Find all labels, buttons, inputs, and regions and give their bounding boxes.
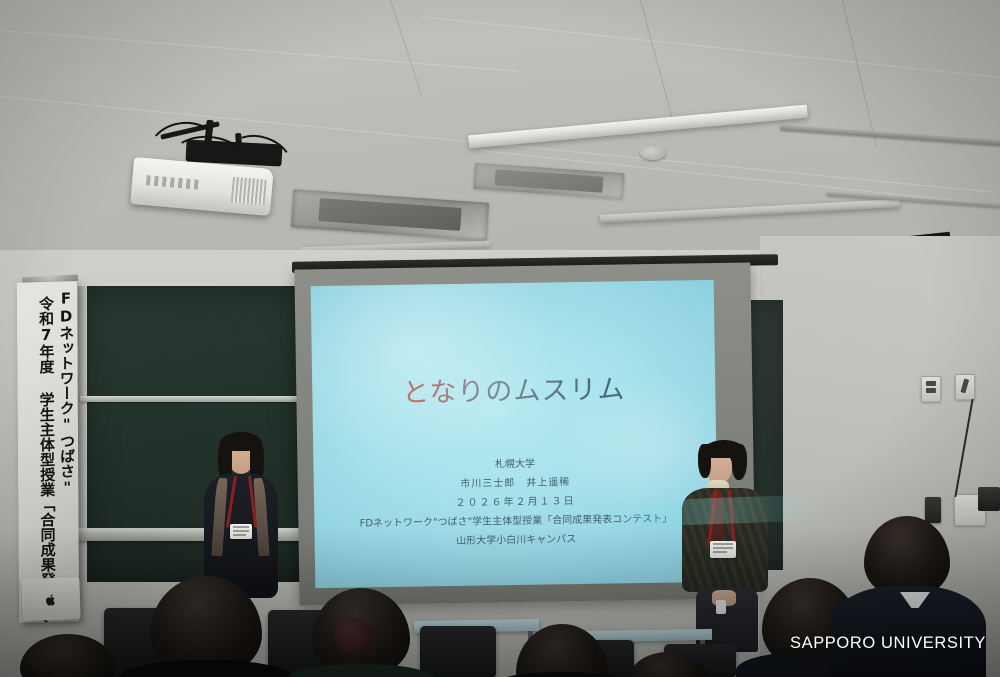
air-vent-secondary-icon <box>473 163 624 199</box>
presenter-cardigan <box>682 488 768 592</box>
ceiling-rail <box>780 125 1000 146</box>
ceiling <box>0 0 1000 262</box>
name-badge <box>230 524 252 539</box>
smoke-detector-icon <box>640 146 666 160</box>
wall-outlet-plate-2 <box>955 374 975 400</box>
air-vent-icon <box>291 189 489 241</box>
wall-device-box <box>978 487 1000 511</box>
presentation-clicker[interactable] <box>716 600 726 614</box>
laptop[interactable] <box>21 577 80 621</box>
presenter-right <box>680 440 772 652</box>
slide-date: ２０２６年２月１３日 <box>314 490 717 511</box>
presentation-photo: となりのムスリム 札幌大学 市川三士郎 井上遥稀 ２０２６年２月１３日 FDネッ… <box>0 0 1000 677</box>
fluorescent-light-icon <box>468 105 808 149</box>
projection-screen-surface: となりのムスリム 札幌大学 市川三士郎 井上遥稀 ２０２６年２月１３日 FDネッ… <box>311 280 719 588</box>
apple-logo-icon <box>45 593 56 606</box>
slide-venue: 山形大学小白川キャンパス <box>315 528 718 549</box>
fluorescent-light-secondary-icon <box>600 199 900 223</box>
event-banner: FDネットワーク"つばさ" 令和7年度 学生主体型授業「合同成果発表コンテ <box>17 281 79 623</box>
slide-title: となりのムスリム <box>312 366 716 411</box>
name-badge <box>710 541 736 558</box>
watermark: SAPPORO UNIVERSITY <box>790 634 986 653</box>
banner-text-right: FDネットワーク"つばさ" <box>57 289 74 496</box>
wall-switch-panel[interactable] <box>925 497 941 523</box>
chair[interactable] <box>420 626 496 677</box>
slide-event: FDネットワーク"つばさ"学生主体型授業「合同成果発表コンテスト」 <box>314 509 717 530</box>
banner-text-left: 令和7年度 学生主体型授業「合同成果発表コンテ <box>37 296 55 623</box>
slide-presenters: 市川三士郎 井上遥稀 <box>314 471 717 492</box>
blackboard-divider-rail <box>80 396 308 402</box>
slide-organization: 札幌大学 <box>313 452 716 473</box>
wall-outlet-plate-1 <box>921 376 941 402</box>
